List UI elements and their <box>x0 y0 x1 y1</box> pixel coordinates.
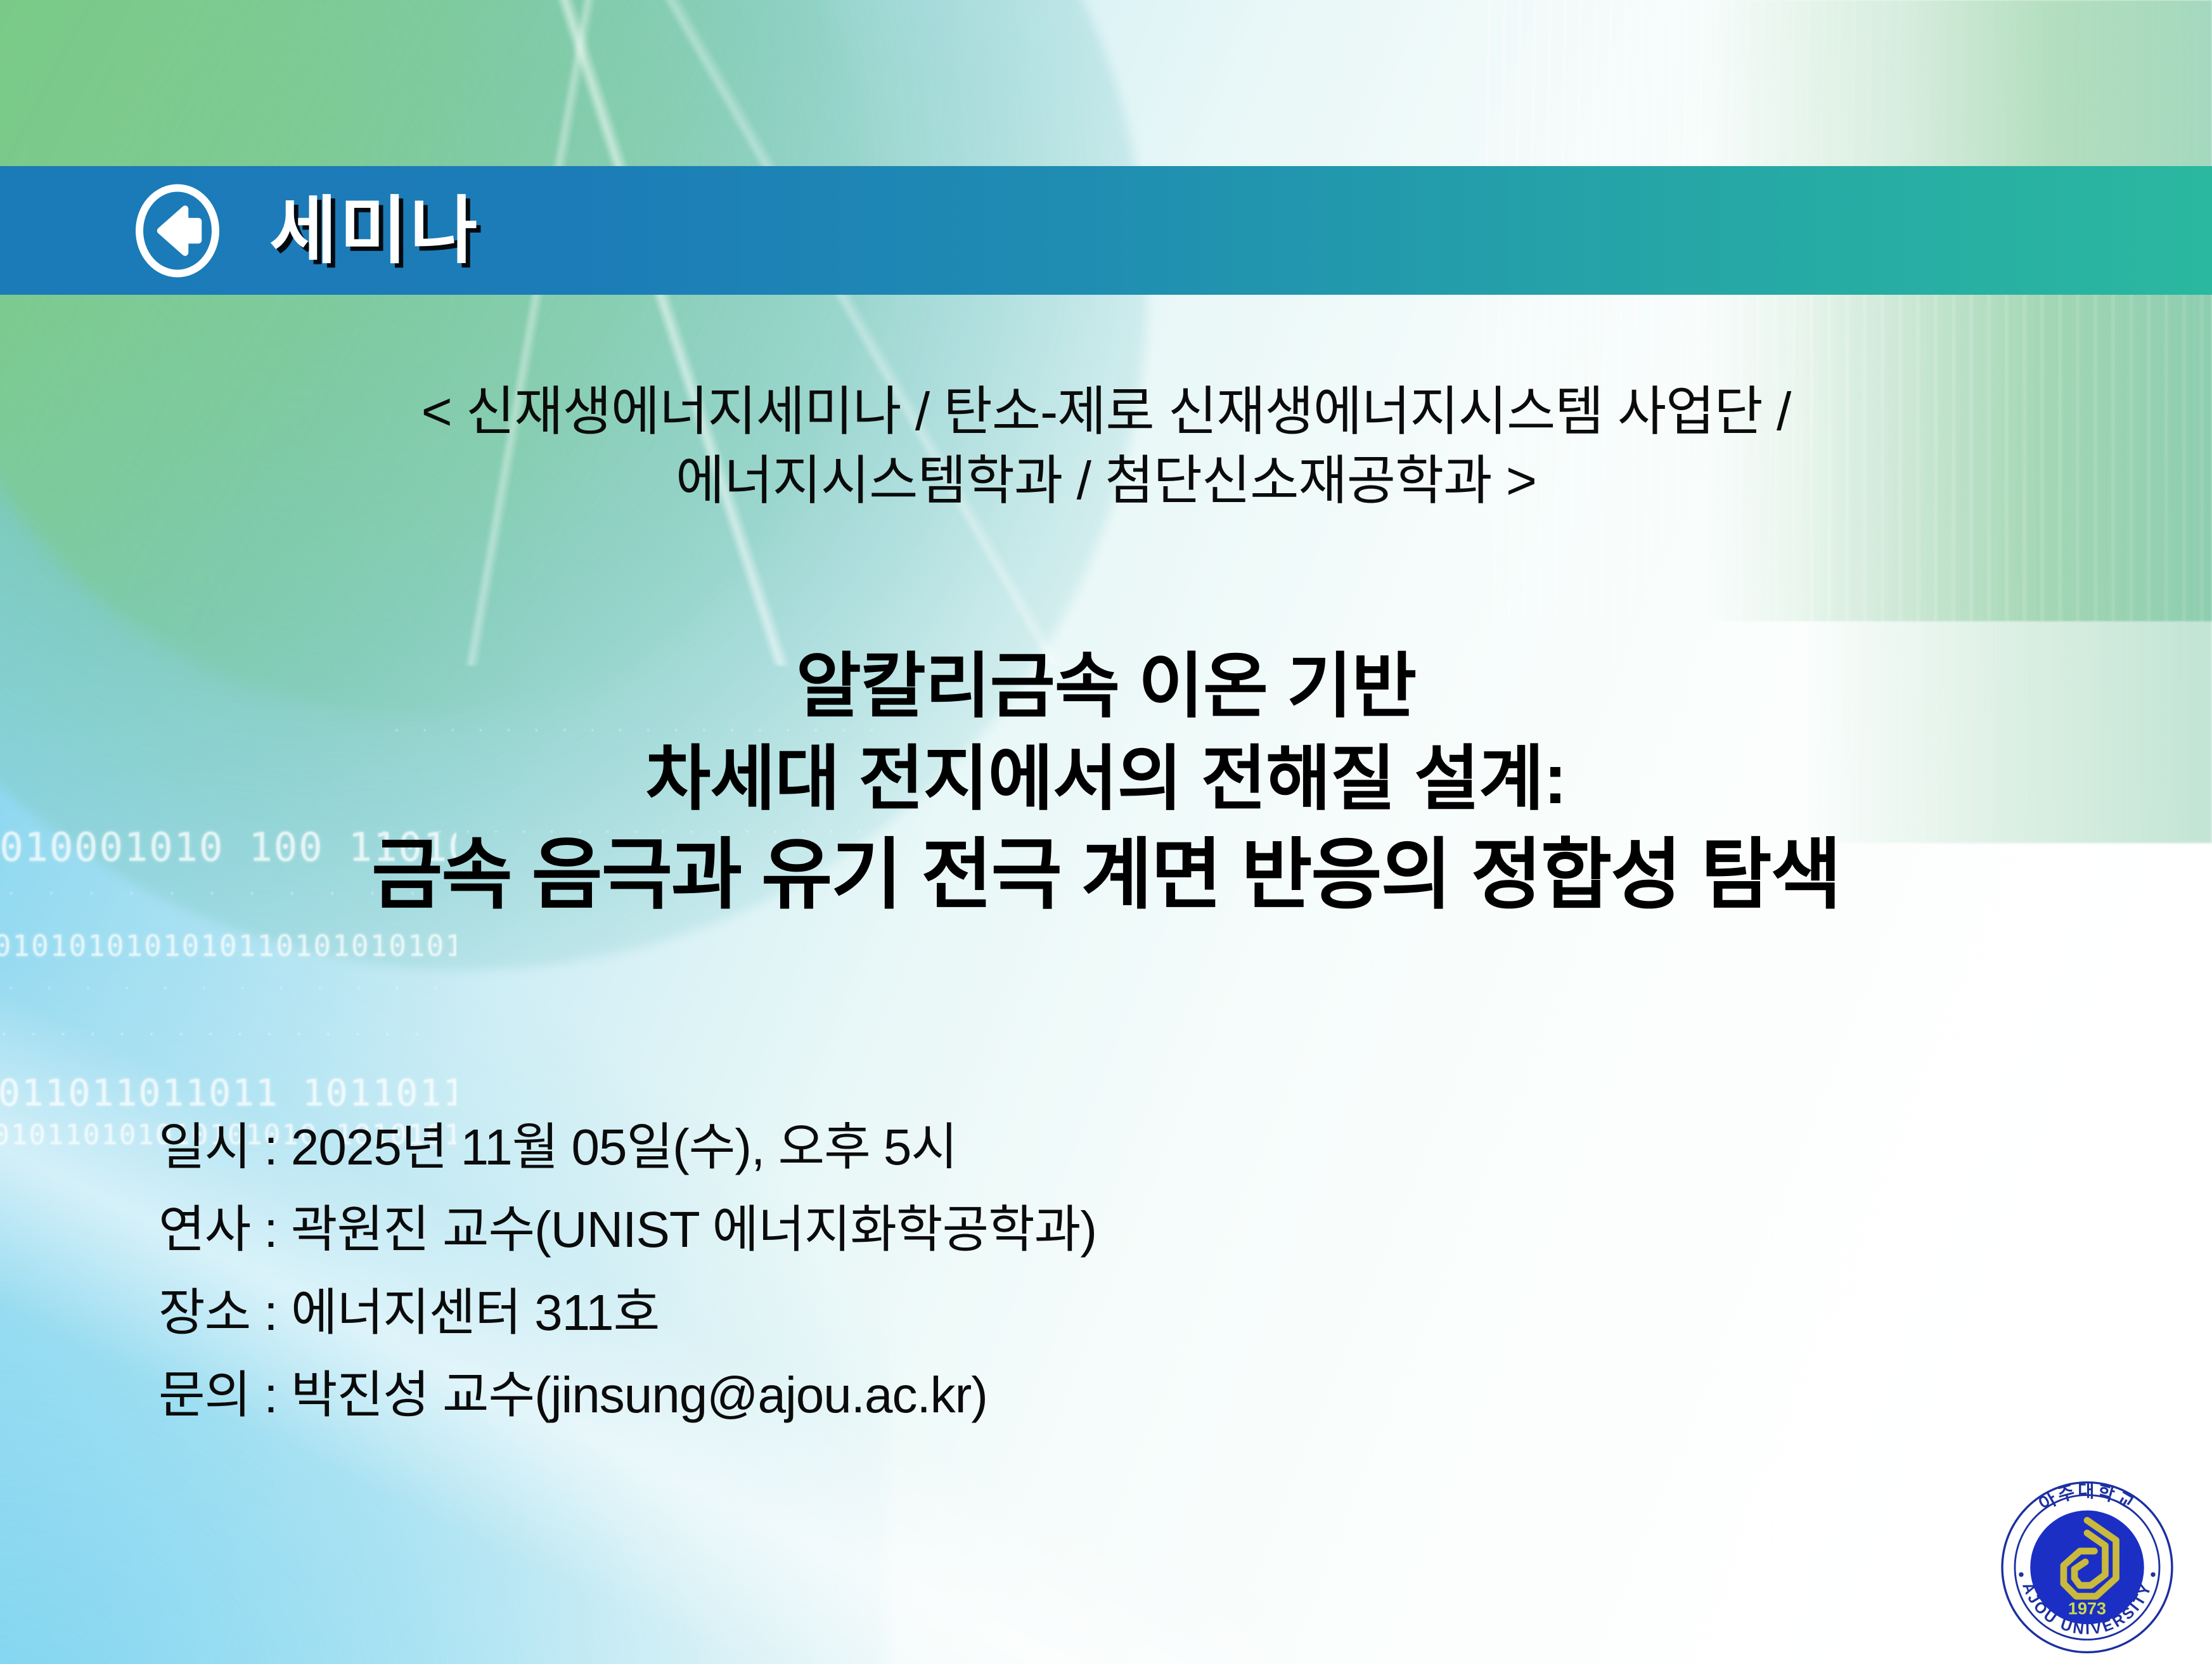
detail-speaker: 연사 : 곽원진 교수(UNIST 에너지화학공학과) <box>158 1189 1096 1271</box>
seminar-details: 일시 : 2025년 11월 05일(수), 오후 5시 연사 : 곽원진 교수… <box>158 1106 1096 1437</box>
subtitle-line-1: < 신재생에너지세미나 / 탄소-제로 신재생에너지시스템 사업단 / <box>0 377 2212 446</box>
detail-datetime: 일시 : 2025년 11월 05일(수), 오후 5시 <box>158 1106 1096 1189</box>
logo-dot-left <box>2019 1572 2023 1577</box>
title-line-1: 알칼리금속 이온 기반 <box>0 640 2212 733</box>
subtitle-line-2: 에너지시스템학과 / 첨단신소재공학과 > <box>0 446 2212 515</box>
seminar-title: 알칼리금속 이온 기반 차세대 전지에서의 전해질 설계: 금속 음극과 유기 … <box>0 640 2212 926</box>
logo-dot-right <box>2151 1572 2155 1577</box>
detail-location: 장소 : 에너지센터 311호 <box>158 1272 1096 1354</box>
poster-content: < 신재생에너지세미나 / 탄소-제로 신재생에너지시스템 사업단 / 에너지시… <box>0 0 2212 1664</box>
title-line-2: 차세대 전지에서의 전해질 설계: <box>0 733 2212 825</box>
detail-contact: 문의 : 박진성 교수(jinsung@ajou.ac.kr) <box>158 1354 1096 1436</box>
logo-year: 1973 <box>2068 1599 2106 1618</box>
ajou-university-logo: 1973 아주대학교 AJOU UNIVERSITY <box>1995 1477 2179 1658</box>
title-line-3: 금속 음극과 유기 전극 계면 반응의 정합성 탐색 <box>0 825 2212 926</box>
seminar-subtitle: < 신재생에너지세미나 / 탄소-제로 신재생에너지시스템 사업단 / 에너지시… <box>0 377 2212 515</box>
